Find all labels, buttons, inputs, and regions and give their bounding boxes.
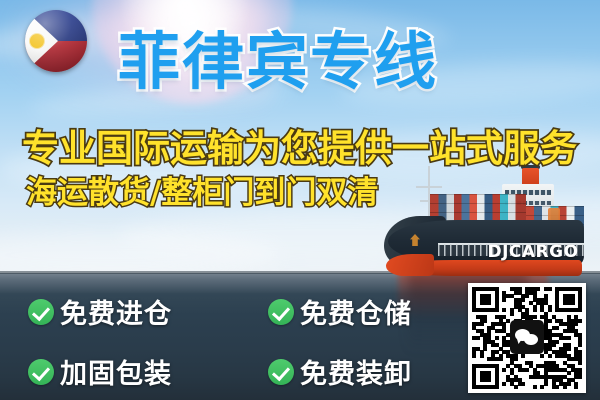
wechat-logo-icon bbox=[510, 320, 544, 354]
feature-item-free-storage: 免费仓储 bbox=[268, 292, 412, 331]
page-title: 菲律宾专线 bbox=[118, 31, 438, 93]
qr-code-matrix bbox=[472, 287, 582, 389]
check-circle-icon bbox=[28, 299, 54, 325]
feature-item-free-warehouse-entry: 免费进仓 bbox=[28, 292, 172, 331]
wechat-bubbles-icon bbox=[515, 328, 539, 346]
ship-bow-waterline bbox=[386, 254, 434, 276]
ship-mast-crossbar bbox=[416, 186, 442, 188]
check-circle-icon bbox=[268, 299, 294, 325]
check-circle-icon bbox=[28, 359, 54, 385]
feature-label: 加固包装 bbox=[60, 352, 172, 391]
subtitle-secondary: 海运散货/整柜门到门双清 bbox=[26, 176, 378, 210]
feature-label: 免费仓储 bbox=[300, 292, 412, 331]
wechat-qr-code[interactable] bbox=[468, 283, 586, 393]
philippines-flag-icon bbox=[25, 10, 87, 72]
feature-item-free-loading: 免费装卸 bbox=[268, 352, 412, 391]
ship-brand-text: DJCARGO bbox=[478, 242, 588, 262]
advertisement-banner: DJCARGO 菲律宾专线 专业国际运输为您提供一站式服务 海运散货/整柜门到门… bbox=[0, 0, 600, 400]
container-ship-illustration: DJCARGO bbox=[382, 168, 598, 280]
subtitle-primary: 专业国际运输为您提供一站式服务 bbox=[22, 129, 577, 169]
feature-label: 免费装卸 bbox=[300, 352, 412, 391]
feature-item-reinforced-packing: 加固包装 bbox=[28, 352, 172, 391]
wechat-bubble-small bbox=[524, 334, 538, 345]
flag-gloss-overlay bbox=[25, 10, 87, 72]
check-circle-icon bbox=[268, 359, 294, 385]
feature-label: 免费进仓 bbox=[60, 292, 172, 331]
